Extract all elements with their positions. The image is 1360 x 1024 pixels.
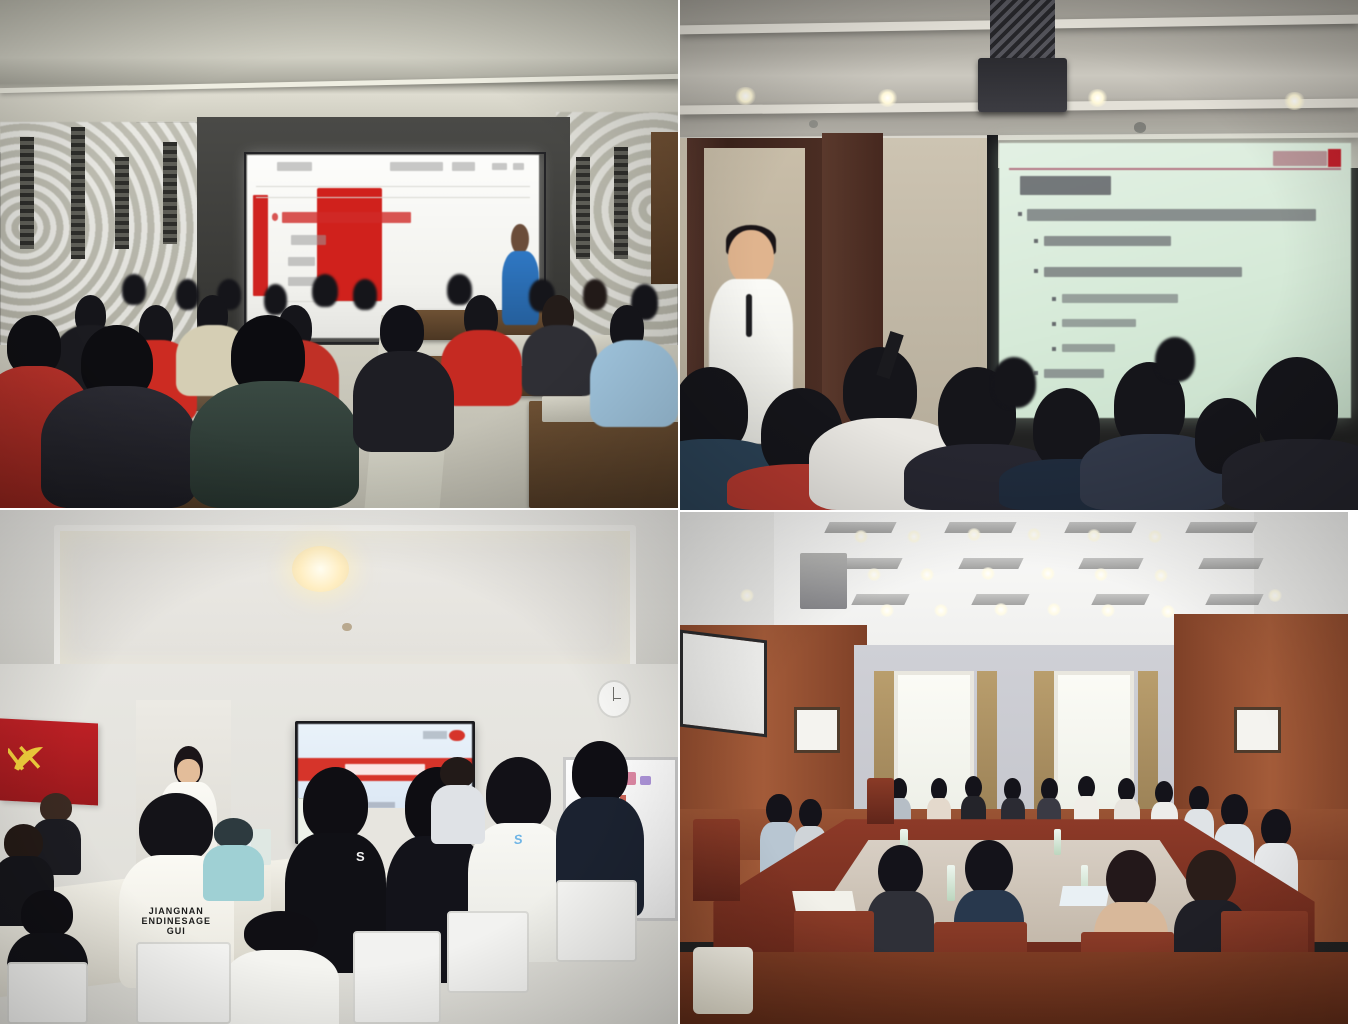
- framed-picture: [794, 707, 841, 753]
- chair: [353, 931, 441, 1024]
- slide-bullet-line: [1062, 344, 1115, 352]
- slide-title: [1020, 176, 1112, 195]
- seated-student: [431, 757, 485, 844]
- audience-head: [353, 279, 377, 309]
- chair: [136, 942, 231, 1024]
- ceiling-spotlight: [994, 603, 1008, 616]
- audience-body-foreground: [190, 381, 360, 508]
- ceiling-spotlight: [1101, 604, 1115, 617]
- chair: [556, 880, 637, 962]
- ceiling-spotlight: [981, 567, 995, 580]
- audience-body-foreground: [41, 386, 197, 508]
- slide-bullet-line: [1062, 319, 1136, 327]
- ceiling-projector: [972, 0, 1074, 112]
- wall-slat: [115, 157, 129, 248]
- slide-logo: [1270, 148, 1341, 170]
- audience-head: [380, 305, 424, 356]
- audience-body: [1222, 439, 1358, 510]
- audience-head: [1155, 337, 1196, 383]
- ceiling-spotlight: [854, 530, 868, 543]
- audience-body: [590, 340, 678, 426]
- microphone-icon: [746, 294, 752, 337]
- ceiling-spotlight: [934, 604, 948, 617]
- wall-slat: [163, 142, 177, 244]
- jersey-text: JIANGNAN ENDINESAGE GUI: [119, 906, 234, 937]
- collage-panel-bottom-right: [680, 512, 1348, 1024]
- wall-slat: [71, 127, 85, 259]
- ceiling-spotlight: [1161, 605, 1175, 618]
- audience-head: [176, 279, 199, 309]
- ceiling-spotlight: [1148, 530, 1162, 543]
- ceiling-downlight: [877, 89, 899, 106]
- wall-clock: [597, 680, 631, 719]
- slide-bullet-line: [1044, 267, 1241, 277]
- slide-bullet-line: [1044, 236, 1171, 246]
- jersey-letter: S: [356, 849, 376, 880]
- ceiling-spotlight: [907, 530, 921, 543]
- wall-slat: [20, 137, 34, 249]
- ceiling-spotlight: [740, 589, 754, 602]
- audience-body: [353, 351, 455, 453]
- chair: [7, 962, 88, 1024]
- water-bottle: [1054, 829, 1061, 855]
- audience-head: [583, 279, 607, 309]
- wall-slat: [614, 147, 628, 259]
- floor: [680, 952, 1348, 1024]
- slide-logo-mark: [449, 730, 465, 742]
- side-door: [651, 132, 678, 284]
- ceiling-coffer: [54, 525, 636, 676]
- collage-panel-bottom-left: JIANGNAN ENDINESAGE GUI S: [0, 510, 678, 1024]
- ceiling-downlight: [1087, 89, 1109, 106]
- hammer-sickle-emblem: [8, 733, 49, 783]
- slide-bullet-line: [1062, 294, 1178, 302]
- audience-head: [122, 274, 146, 304]
- framed-picture: [1234, 707, 1281, 753]
- projection-screen: [680, 630, 767, 738]
- slide-bullet-line: [1027, 209, 1316, 221]
- collage-panel-top-left: [0, 0, 678, 508]
- collage-panel-top-right: [680, 0, 1358, 510]
- chair: [867, 778, 894, 824]
- seated-student: [203, 818, 264, 900]
- wall-slat: [576, 157, 590, 259]
- chair: [447, 911, 528, 993]
- seated-student-foreground: [224, 911, 339, 1024]
- open-notebook: [792, 891, 856, 911]
- photo-collage: JIANGNAN ENDINESAGE GUI S: [0, 0, 1360, 1024]
- ceiling-spotlight: [1268, 589, 1282, 602]
- audience-head: [992, 357, 1036, 408]
- ceiling-projector: [800, 553, 847, 609]
- ceiling-spotlight: [1041, 567, 1055, 580]
- audience-head: [447, 274, 471, 304]
- ceiling-lamp: [292, 546, 350, 592]
- slide-logo-text: [423, 731, 447, 739]
- smoke-detector: [1134, 122, 1146, 132]
- bag: [693, 947, 753, 1014]
- audience-body: [522, 325, 597, 396]
- slide-bullet-line: [1044, 369, 1104, 378]
- audience-head: [312, 274, 338, 307]
- chair: [693, 819, 740, 901]
